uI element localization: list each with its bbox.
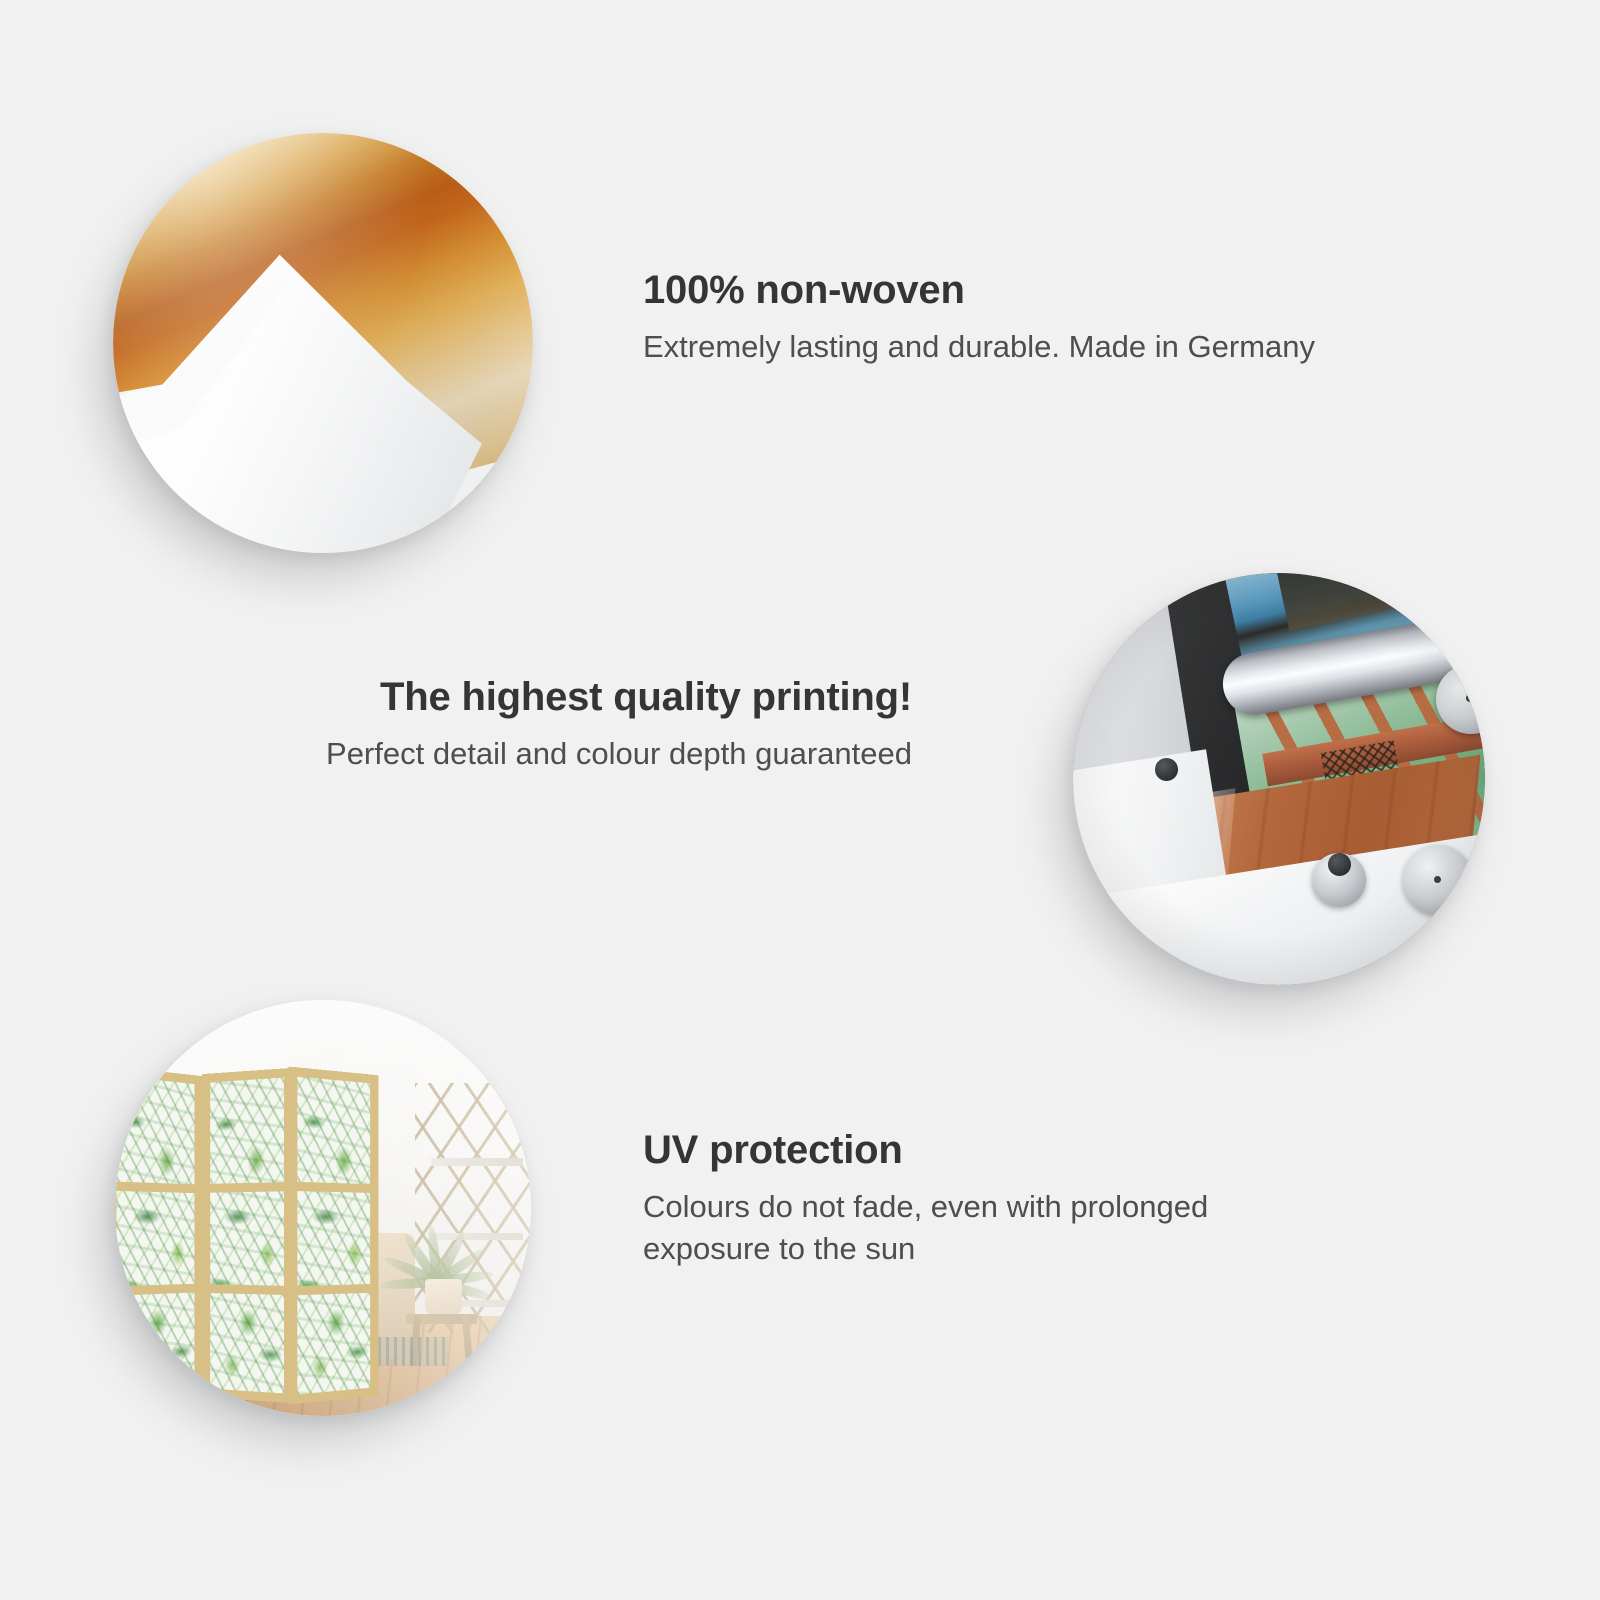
feature-description-printing: Perfect detail and colour depth guarante… [232, 733, 912, 775]
feature-description-uv-protection: Colours do not fade, even with prolonged… [643, 1186, 1263, 1270]
plant-pot [425, 1279, 462, 1316]
folding-room-divider [115, 1071, 381, 1400]
panel-crossbar [297, 1284, 370, 1295]
panel-crossbar [297, 1181, 370, 1192]
feature-image-uv-protection [115, 1000, 531, 1416]
palm-plant [377, 1179, 502, 1287]
panel-crossbar [210, 1181, 284, 1192]
feature-text-printing: The highest quality printing! Perfect de… [232, 675, 912, 775]
divider-panel-2 [202, 1067, 294, 1402]
divider-panel-1 [115, 1065, 202, 1405]
panel-crossbar [210, 1284, 284, 1295]
feature-image-non-woven [113, 133, 533, 553]
panel-crossbar [116, 1283, 194, 1295]
feature-description-non-woven: Extremely lasting and durable. Made in G… [643, 326, 1323, 368]
feature-title-uv-protection: UV protection [643, 1128, 1263, 1172]
printing-photo [1073, 573, 1485, 985]
feature-text-uv-protection: UV protection Colours do not fade, even … [643, 1128, 1263, 1270]
feature-title-non-woven: 100% non-woven [643, 268, 1323, 312]
shelf-board-top [431, 1158, 523, 1165]
non-woven-photo [113, 133, 533, 553]
printing-photo-vignette [1073, 573, 1485, 985]
feature-image-printing [1073, 573, 1485, 985]
uv-protection-photo [115, 1000, 531, 1416]
panel-crossbar [116, 1181, 194, 1193]
feature-text-non-woven: 100% non-woven Extremely lasting and dur… [643, 268, 1323, 368]
feature-title-printing: The highest quality printing! [232, 675, 912, 719]
divider-panel-3 [288, 1066, 379, 1404]
infographic-canvas: 100% non-woven Extremely lasting and dur… [0, 0, 1600, 1600]
